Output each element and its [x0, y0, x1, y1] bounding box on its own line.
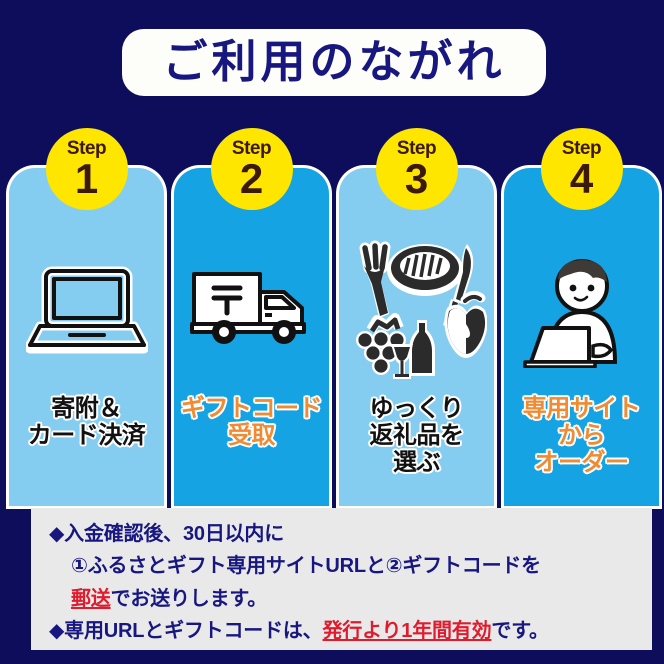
step-panel-2[interactable]: Step 2 [174, 168, 329, 506]
title-pill: ご利用のながれ [122, 29, 546, 96]
note-line-3-rest: でお送りします。 [111, 588, 267, 610]
step-caption-4-line-3: オーダー [504, 450, 659, 477]
step-caption-2: ギフトコード 受取 [174, 396, 329, 450]
step-caption-4-line-1: 専用サイト [504, 396, 659, 423]
step-badge-number-3: 3 [405, 159, 428, 199]
note-line-1: ◆入金確認後、30日以内に [31, 518, 652, 550]
laptop-icon [9, 224, 164, 394]
step-badge-1: Step 1 [46, 128, 128, 210]
step-badge-4: Step 4 [541, 128, 623, 210]
note-line-4: ◆専用URLとギフトコードは、発行より1年間有効です。 [31, 615, 652, 647]
delivery-truck-icon [174, 224, 329, 394]
steps-container: Step 1 [0, 168, 664, 508]
note-line-4-suffix: です。 [491, 620, 548, 642]
note-box: ◆入金確認後、30日以内に ①ふるさとギフト専用サイトURLと②ギフトコードを … [31, 508, 652, 650]
note-line-4-prefix: ◆専用URLとギフトコードは、 [49, 620, 322, 642]
person-laptop-icon [504, 224, 659, 394]
step-caption-4-line-2: から [504, 423, 659, 450]
step-caption-1-line-1: 寄附＆ [9, 396, 164, 423]
step-caption-3: ゆっくり 返礼品を 選ぶ [339, 396, 494, 477]
note-line-2: ①ふるさとギフト専用サイトURLと②ギフトコードを [31, 550, 652, 582]
step-badge-number-1: 1 [75, 159, 98, 199]
step-caption-1: 寄附＆ カード決済 [9, 396, 164, 450]
step-badge-number-2: 2 [240, 159, 263, 199]
step-panel-3[interactable]: Step 3 [339, 168, 494, 506]
step-caption-1-line-2: カード決済 [9, 423, 164, 450]
step-caption-3-line-3: 選ぶ [339, 450, 494, 477]
step-caption-2-line-1: ギフトコード [174, 396, 329, 423]
step-panel-1[interactable]: Step 1 [9, 168, 164, 506]
step-badge-3: Step 3 [376, 128, 458, 210]
note-line-3: 郵送でお送りします。 [31, 583, 652, 615]
step-caption-3-line-2: 返礼品を [339, 423, 494, 450]
step-caption-2-line-2: 受取 [174, 423, 329, 450]
step-caption-3-line-1: ゆっくり [339, 396, 494, 423]
infographic-root: ご利用のながれ Step 1 [0, 0, 664, 664]
page-title: ご利用のながれ [162, 39, 505, 84]
note-line-4-highlight: 発行より1年間有効 [322, 620, 491, 642]
food-selection-icon [339, 224, 494, 394]
step-badge-2: Step 2 [211, 128, 293, 210]
step-panel-4[interactable]: Step 4 [504, 168, 659, 506]
step-badge-number-4: 4 [570, 159, 593, 199]
step-caption-4: 専用サイト から オーダー [504, 396, 659, 477]
note-line-3-highlight: 郵送 [71, 588, 111, 610]
